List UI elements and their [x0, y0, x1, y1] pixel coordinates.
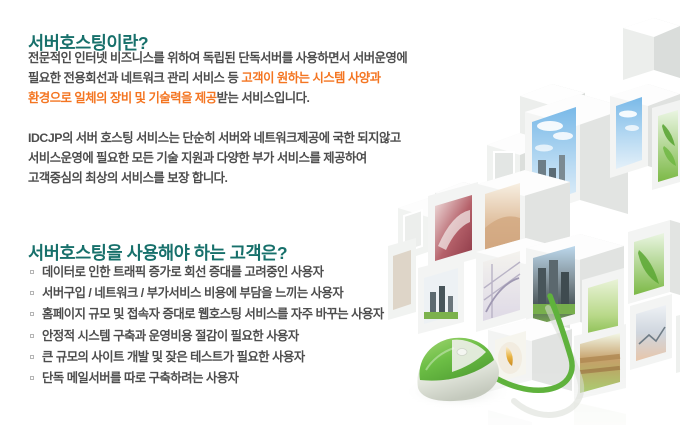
hosting-illustration	[380, 0, 680, 425]
paragraph-1-line-2: 필요한 전용회선과 네트워크 관리 서비스 등 고객이 원하는 시스템 사양과	[28, 68, 407, 88]
square-bullet-icon	[30, 291, 34, 295]
paragraph-1-line-3-plain: 받는 서비스입니다.	[217, 91, 310, 105]
section-1-paragraph-1: 전문적인 인터넷 비즈니스를 위하여 독립된 단독서버를 사용하면서 서버운영에…	[28, 48, 407, 108]
list-item: 단독 메일서버를 따로 구축하려는 사용자	[28, 368, 384, 389]
paragraph-1-line-2-plain: 필요한 전용회선과 네트워크 관리 서비스 등	[28, 71, 241, 85]
paragraph-1-line-2-highlight: 고객이 원하는 시스템 사양과	[241, 71, 380, 85]
square-bullet-icon	[30, 376, 34, 380]
paragraph-2-line-2: 서비스운영에 필요한 모든 기술 지원과 다양한 부가 서비스를 제공하여	[28, 148, 401, 168]
list-item-label: 단독 메일서버를 따로 구축하려는 사용자	[42, 371, 239, 385]
cube-map	[476, 238, 570, 332]
cube-gold	[488, 318, 572, 392]
cube-sky-small	[610, 84, 680, 178]
list-item: 홈페이지 규모 및 접속자 증대로 웹호스팅 서비스를 자주 바꾸는 사용자	[28, 304, 384, 325]
page-root: 서버호스팅이란? 전문적인 인터넷 비즈니스를 위하여 독립된 단독서버를 사용…	[0, 0, 680, 425]
square-bullet-icon	[30, 270, 34, 274]
cube-strip-left	[388, 238, 416, 320]
list-item-label: 데이터로 인한 트래픽 증가로 회선 증대를 고려중인 사용자	[42, 265, 323, 279]
cube-bamboo	[676, 315, 680, 373]
paragraph-1-line-1: 전문적인 인터넷 비즈니스를 위하여 독립된 단독서버를 사용하면서 서버운영에	[28, 48, 407, 68]
mouse-cable-shadow	[514, 308, 581, 415]
customer-type-list: 데이터로 인한 트래픽 증가로 회선 증대를 고려중인 사용자 서버구입 / 네…	[28, 262, 384, 389]
list-item: 서버구입 / 네트워크 / 부가서비스 비용에 부담을 느끼는 사용자	[28, 283, 384, 304]
paragraph-2-line-3: 고객중심의 최상의 서비스를 보장 합니다.	[28, 168, 401, 188]
cube-maroon	[428, 182, 478, 272]
cube-leaf-right	[628, 220, 680, 304]
cube-city-small-left	[418, 256, 464, 334]
cube-sand	[478, 170, 570, 266]
list-item-label: 큰 규모의 사이트 개발 및 잦은 테스트가 필요한 사용자	[42, 350, 305, 364]
paragraph-1-line-3: 환경으로 일체의 장비 및 기술력을 제공받는 서비스입니다.	[28, 88, 407, 108]
section-1-paragraph-2: IDCJP의 서버 호스팅 서비스는 단순히 서버와 네트워크제공에 국한 되지…	[28, 128, 401, 188]
computer-mouse	[404, 338, 512, 409]
paragraph-1-line-3-highlight: 환경으로 일체의 장비 및 기술력을 제공	[28, 91, 217, 105]
list-item: 데이터로 인한 트래픽 증가로 회선 증대를 고려중인 사용자	[28, 262, 384, 283]
cube-hand	[630, 294, 672, 370]
cube-wood	[574, 324, 626, 400]
list-item-label: 서버구입 / 네트워크 / 부가서비스 비용에 부담을 느끼는 사용자	[42, 286, 343, 300]
cube-leaf	[652, 100, 680, 190]
cube-field	[582, 268, 624, 348]
list-item: 안정적 시스템 구축과 운영비용 절감이 필요한 사용자	[28, 326, 384, 347]
cube-sky-large	[525, 94, 628, 218]
paragraph-2-line-1: IDCJP의 서버 호스팅 서비스는 단순히 서버와 네트워크제공에 국한 되지…	[28, 128, 401, 148]
mouse-cable	[483, 296, 572, 390]
list-item: 큰 규모의 사이트 개발 및 잦은 테스트가 필요한 사용자	[28, 347, 384, 368]
list-item-label: 안정적 시스템 구축과 운영비용 절감이 필요한 사용자	[42, 329, 299, 343]
section-2-heading: 서버호스팅을 사용해야 하는 고객은?	[28, 243, 287, 264]
square-bullet-icon	[30, 334, 34, 338]
cube-city	[526, 234, 624, 336]
square-bullet-icon	[30, 355, 34, 359]
square-bullet-icon	[30, 312, 34, 316]
cube-reflection	[380, 370, 680, 425]
list-item-label: 홈페이지 규모 및 접속자 증대로 웹호스팅 서비스를 자주 바꾸는 사용자	[42, 307, 384, 321]
cube-cluster	[388, 18, 680, 400]
